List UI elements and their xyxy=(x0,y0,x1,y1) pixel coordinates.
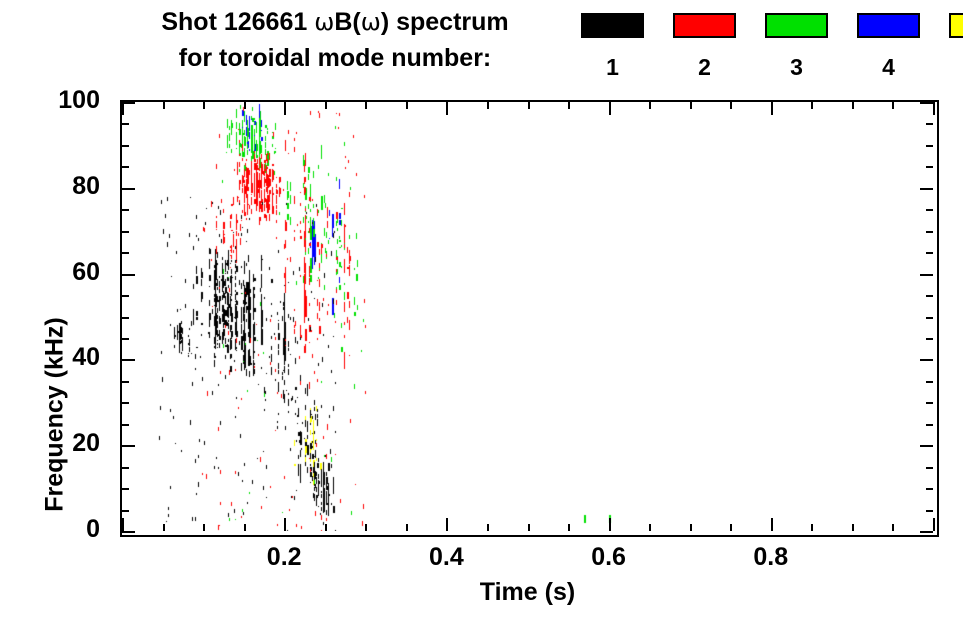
x-tick-bottom xyxy=(203,524,205,531)
y-tick-right xyxy=(926,510,933,512)
x-tick-label: 0.6 xyxy=(564,543,654,572)
y-tick-right xyxy=(926,424,933,426)
x-tick-bottom xyxy=(406,524,408,531)
x-tick-bottom xyxy=(325,524,327,531)
x-tick-label: 0.8 xyxy=(726,543,816,572)
x-tick-bottom xyxy=(933,518,935,531)
y-tick-left xyxy=(122,252,129,254)
y-axis-title: Frequency (kHz) xyxy=(41,200,70,630)
spectrogram-canvas xyxy=(122,102,933,531)
y-tick-left xyxy=(122,317,129,319)
y-tick-label: 100 xyxy=(28,86,100,115)
figure-root: Shot 126661 ωB(ω) spectrum for toroidal … xyxy=(0,0,963,615)
x-tick-top xyxy=(406,102,408,109)
y-tick-right xyxy=(926,467,933,469)
y-tick-right xyxy=(926,145,933,147)
y-tick-left xyxy=(122,295,129,297)
x-tick-top xyxy=(244,102,246,109)
x-tick-bottom xyxy=(649,524,651,531)
x-tick-bottom xyxy=(163,524,165,531)
y-tick-left xyxy=(122,166,129,168)
y-tick-right xyxy=(920,188,933,190)
y-tick-right xyxy=(926,231,933,233)
x-tick-top xyxy=(933,102,935,115)
x-tick-top xyxy=(528,102,530,109)
y-tick-left xyxy=(122,231,129,233)
y-tick-right xyxy=(926,488,933,490)
legend-label-mode-n4: 4 xyxy=(857,52,920,82)
x-tick-top xyxy=(730,102,732,109)
x-tick-bottom xyxy=(852,524,854,531)
legend-swatch-mode-n5 xyxy=(949,13,963,38)
legend-swatch-mode-n1 xyxy=(581,13,644,38)
x-tick-bottom xyxy=(811,524,813,531)
y-tick-left xyxy=(122,145,129,147)
y-tick-right xyxy=(920,531,933,533)
x-tick-bottom xyxy=(568,524,570,531)
x-tick-bottom xyxy=(609,518,611,531)
x-tick-bottom xyxy=(771,518,773,531)
y-tick-left xyxy=(122,445,135,447)
y-tick-left xyxy=(122,531,135,533)
x-tick-top xyxy=(325,102,327,109)
y-tick-right xyxy=(920,445,933,447)
y-tick-left xyxy=(122,424,129,426)
y-tick-right xyxy=(926,252,933,254)
x-tick-top xyxy=(892,102,894,109)
legend-swatch-mode-n2 xyxy=(673,13,736,38)
x-tick-top xyxy=(649,102,651,109)
title-prefix: Shot 126661 xyxy=(161,8,314,36)
x-tick-bottom xyxy=(690,524,692,531)
legend-swatch-mode-n3 xyxy=(765,13,828,38)
y-tick-left xyxy=(122,102,135,104)
x-tick-bottom xyxy=(487,524,489,531)
x-tick-top xyxy=(690,102,692,109)
chart-title-line-2: for toroidal mode number: xyxy=(100,40,570,76)
plot-area[interactable] xyxy=(120,100,939,537)
legend-label-mode-n3: 3 xyxy=(765,52,828,82)
x-tick-top xyxy=(568,102,570,109)
x-tick-top xyxy=(203,102,205,109)
x-tick-top xyxy=(163,102,165,109)
y-tick-right xyxy=(926,209,933,211)
x-tick-bottom xyxy=(730,524,732,531)
y-tick-right xyxy=(926,123,933,125)
x-tick-top xyxy=(365,102,367,109)
omega-symbol-1: ω xyxy=(314,8,334,36)
y-tick-left xyxy=(122,338,129,340)
title-suffix: ) spectrum xyxy=(381,8,509,36)
x-tick-bottom xyxy=(446,518,448,531)
y-axis-title-wrapper: Frequency (kHz) xyxy=(0,100,30,533)
y-tick-left xyxy=(122,274,135,276)
x-tick-top xyxy=(771,102,773,115)
y-tick-right xyxy=(926,317,933,319)
y-tick-left xyxy=(122,510,129,512)
x-tick-top xyxy=(609,102,611,115)
y-tick-left xyxy=(122,381,129,383)
x-tick-bottom xyxy=(892,524,894,531)
y-tick-left xyxy=(122,209,129,211)
legend-swatch-mode-n4 xyxy=(857,13,920,38)
legend-label-mode-n5: 5 xyxy=(949,52,963,82)
y-tick-left xyxy=(122,359,135,361)
y-tick-left xyxy=(122,123,129,125)
y-tick-left xyxy=(122,402,129,404)
legend-label-mode-n1: 1 xyxy=(581,52,644,82)
chart-title-line-1: Shot 126661 ωB(ω) spectrum xyxy=(100,4,570,40)
y-tick-right xyxy=(926,166,933,168)
y-tick-right xyxy=(926,402,933,404)
y-tick-left xyxy=(122,188,135,190)
title-mid: B( xyxy=(334,8,360,36)
y-tick-right xyxy=(920,359,933,361)
x-tick-label: 0.2 xyxy=(239,543,329,572)
y-tick-label: 80 xyxy=(28,172,100,201)
x-tick-label: 0.4 xyxy=(401,543,491,572)
x-tick-top xyxy=(446,102,448,115)
x-tick-bottom xyxy=(284,518,286,531)
legend-label-mode-n2: 2 xyxy=(673,52,736,82)
x-tick-bottom xyxy=(122,518,124,531)
y-tick-right xyxy=(926,295,933,297)
omega-symbol-2: ω xyxy=(361,8,381,36)
x-tick-top xyxy=(284,102,286,115)
x-tick-bottom xyxy=(365,524,367,531)
x-tick-top xyxy=(487,102,489,109)
x-axis-title: Time (s) xyxy=(120,578,935,607)
x-tick-top xyxy=(852,102,854,109)
x-tick-bottom xyxy=(528,524,530,531)
y-tick-right xyxy=(926,338,933,340)
y-tick-right xyxy=(920,274,933,276)
x-tick-top xyxy=(811,102,813,109)
y-tick-right xyxy=(926,381,933,383)
y-tick-right xyxy=(920,102,933,104)
y-tick-left xyxy=(122,467,129,469)
x-tick-bottom xyxy=(244,524,246,531)
chart-title: Shot 126661 ωB(ω) spectrum for toroidal … xyxy=(100,4,570,76)
y-tick-left xyxy=(122,488,129,490)
